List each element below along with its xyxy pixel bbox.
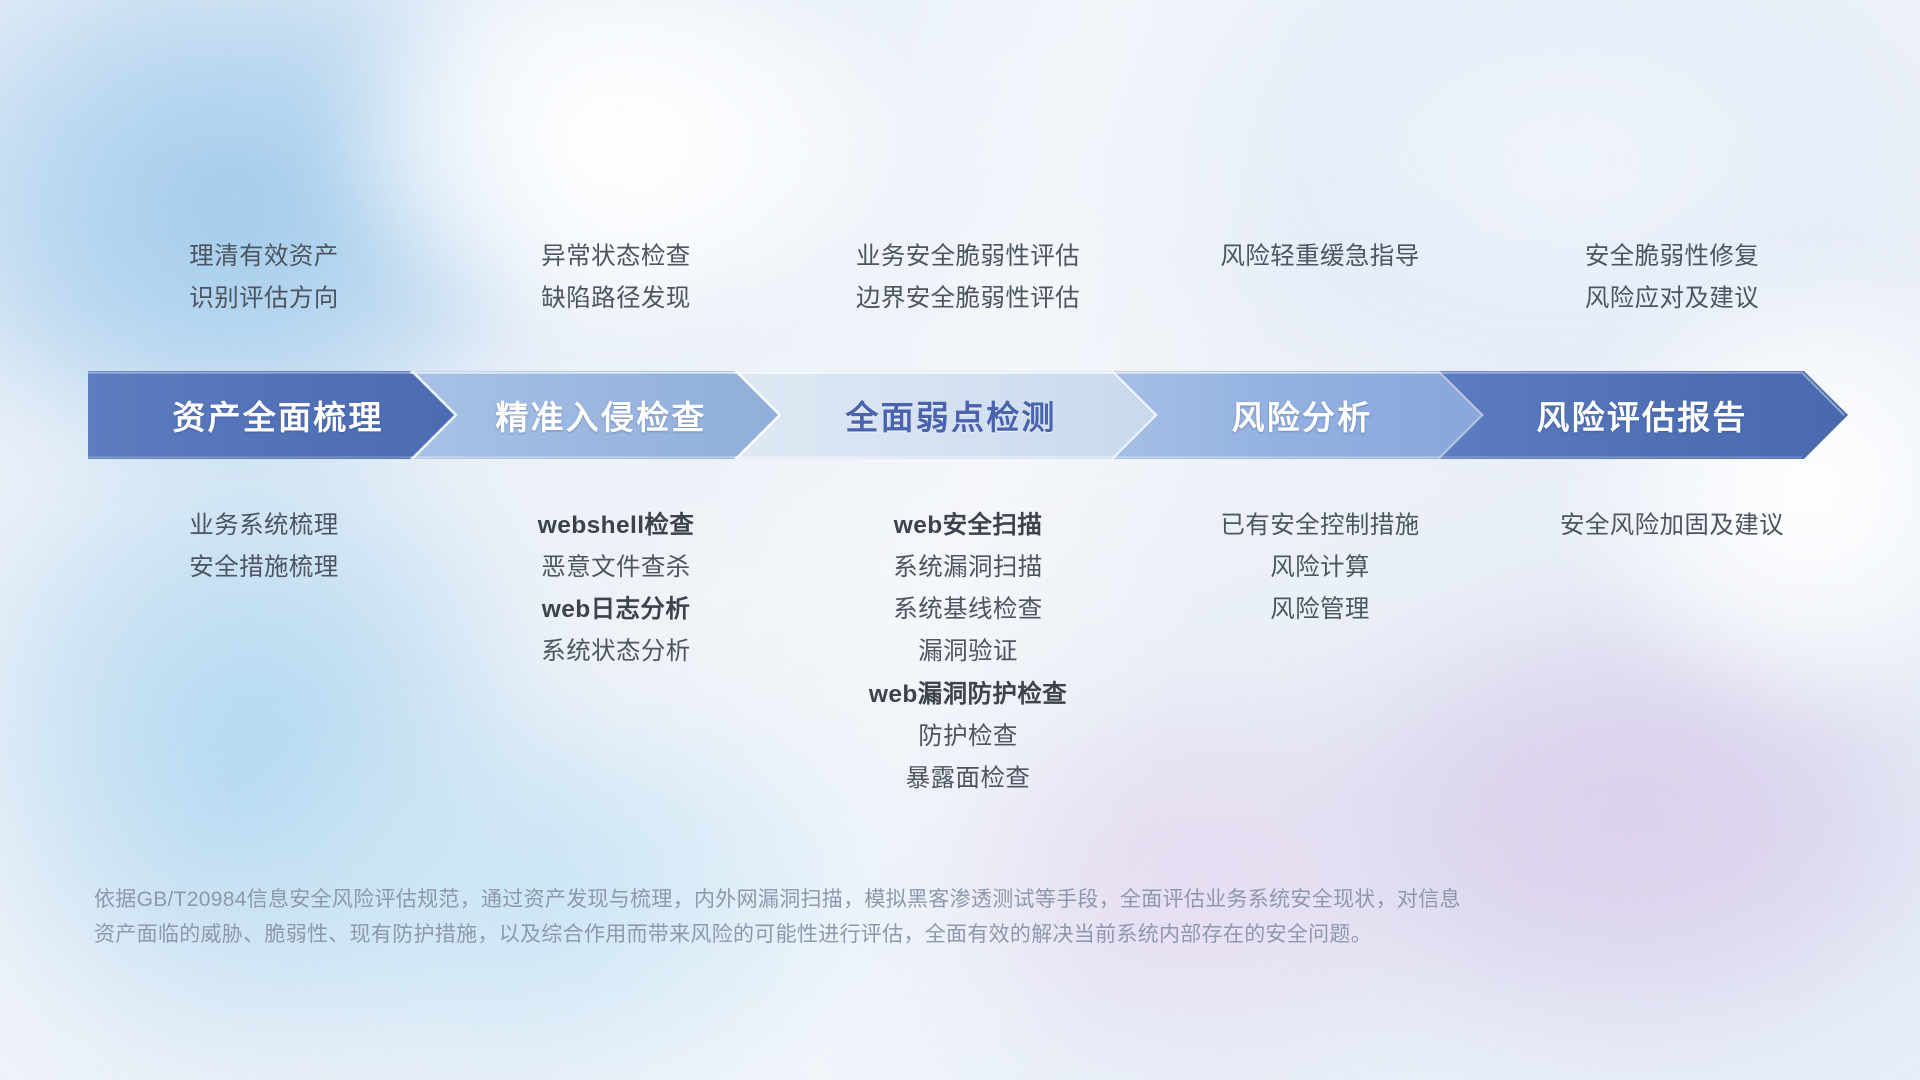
stage-bottom-item: 暴露面检查 [906,758,1031,800]
stage-bottom-item: 系统基线检查 [893,589,1042,631]
stage-bottom-list-weakness-detection: web安全扫描 系统漏洞扫描 系统基线检查 漏洞验证 web漏洞防护检查 防护检… [792,505,1144,800]
chevron-label: 精准入侵检查 [495,391,706,439]
stage-bottom-item: 安全风险加固及建议 [1560,505,1784,547]
stage-bottom-lists-row: 业务系统梳理 安全措施梳理 webshell检查 恶意文件查杀 web日志分析 … [88,505,1848,800]
stage-top-label: 异常状态检查 [541,236,690,278]
chevron-label: 风险评估报告 [1536,391,1747,439]
stage-bottom-item: 安全措施梳理 [189,547,338,589]
stage-bottom-list-risk-report: 安全风险加固及建议 [1496,505,1848,547]
stage-bottom-item: 漏洞验证 [918,631,1018,673]
footer-description: 依据GB/T20984信息安全风险评估规范，通过资产发现与梳理，内外网漏洞扫描，… [94,882,1654,953]
stage-bottom-item: 已有安全控制措施 [1220,505,1419,547]
stage-top-labels-risk-analysis: 风险轻重缓急指导 [1144,236,1496,278]
stage-top-labels-asset-inventory: 理清有效资产 识别评估方向 [88,236,440,320]
stage-bottom-list-risk-analysis: 已有安全控制措施 风险计算 风险管理 [1144,505,1496,631]
chevron-stage-risk-report[interactable]: 风险评估报告 [1436,371,1848,459]
stage-bottom-item: 恶意文件查杀 [541,547,690,589]
stage-bottom-item: web安全扫描 [894,505,1042,547]
stage-bottom-item: 风险管理 [1270,589,1370,631]
stage-top-labels-weakness-detection: 业务安全脆弱性评估 边界安全脆弱性评估 [792,236,1144,320]
stage-top-label: 边界安全脆弱性评估 [856,278,1080,320]
stage-bottom-item: web漏洞防护检查 [869,674,1067,716]
stage-bottom-item: webshell检查 [538,505,694,547]
stage-bottom-item: 系统漏洞扫描 [893,547,1042,589]
footer-line-1: 依据GB/T20984信息安全风险评估规范，通过资产发现与梳理，内外网漏洞扫描，… [94,882,1654,917]
stage-bottom-item: 系统状态分析 [541,631,690,673]
stage-top-labels-intrusion-check: 异常状态检查 缺陷路径发现 [440,236,792,320]
chevron-label: 资产全面梳理 [172,391,383,439]
stage-top-label: 安全脆弱性修复 [1585,236,1759,278]
chevron-label: 全面弱点检测 [845,391,1056,439]
chevron-label: 风险分析 [1232,391,1373,439]
stage-top-labels-risk-report: 安全脆弱性修复 风险应对及建议 [1496,236,1848,320]
stage-bottom-item: 风险计算 [1270,547,1370,589]
stage-top-label: 理清有效资产 [189,236,338,278]
stage-top-label: 缺陷路径发现 [541,278,690,320]
stage-top-label: 业务安全脆弱性评估 [856,236,1080,278]
stage-top-label: 识别评估方向 [189,278,338,320]
stage-bottom-item: 防护检查 [918,716,1018,758]
chevron-stage-weakness-detection[interactable]: 全面弱点检测 [734,371,1168,459]
footer-line-2: 资产面临的威胁、脆弱性、现有防护措施，以及综合作用而带来风险的可能性进行评估，全… [94,917,1654,952]
stage-bottom-item: web日志分析 [542,589,690,631]
process-chevron-banner: 资产全面梳理 精准入侵检查 [88,371,1848,459]
stage-bottom-item: 业务系统梳理 [189,505,338,547]
process-diagram: 理清有效资产 识别评估方向 异常状态检查 缺陷路径发现 业务安全脆弱性评估 边界… [0,0,1920,1080]
stage-top-label: 风险轻重缓急指导 [1220,236,1419,278]
stage-top-label: 风险应对及建议 [1585,278,1759,320]
stage-top-labels-row: 理清有效资产 识别评估方向 异常状态检查 缺陷路径发现 业务安全脆弱性评估 边界… [88,236,1848,320]
stage-bottom-list-asset-inventory: 业务系统梳理 安全措施梳理 [88,505,440,589]
stage-bottom-list-intrusion-check: webshell检查 恶意文件查杀 web日志分析 系统状态分析 [440,505,792,674]
